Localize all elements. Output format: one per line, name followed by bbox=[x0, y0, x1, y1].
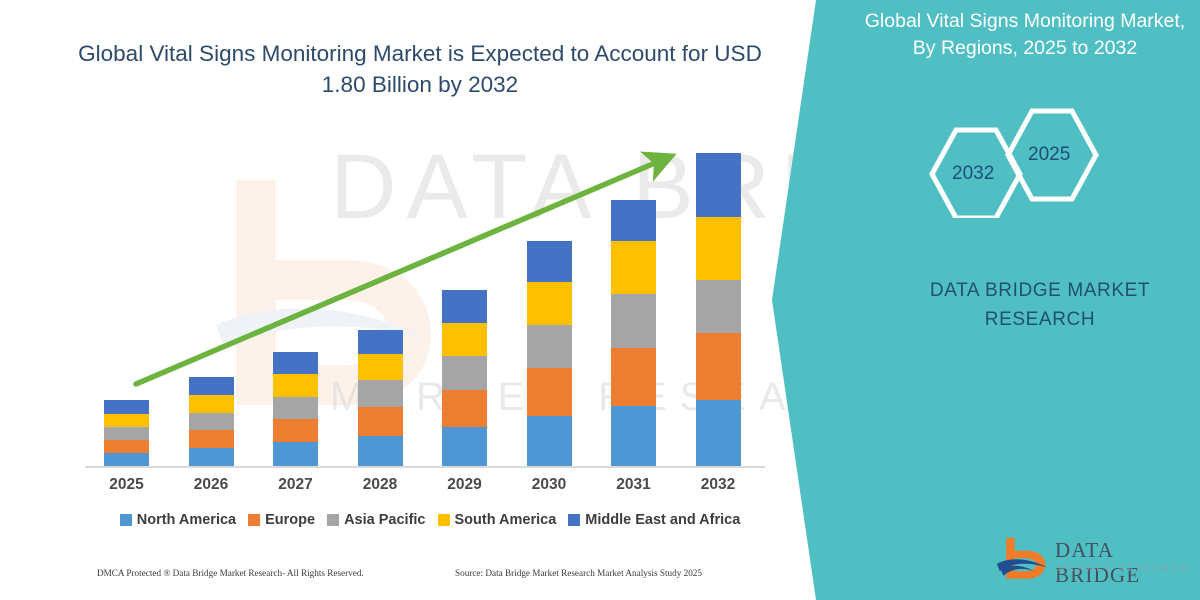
growth-arrow-icon bbox=[0, 0, 800, 600]
bar-2030 bbox=[527, 241, 572, 466]
bar-segment-north-america bbox=[611, 406, 656, 466]
legend-label: South America bbox=[455, 512, 557, 528]
bar-segment-middle-east-and-africa bbox=[358, 330, 403, 354]
chart-legend: North AmericaEuropeAsia PacificSouth Ame… bbox=[85, 512, 775, 528]
panel-brand-line2: RESEARCH bbox=[900, 305, 1180, 334]
legend-swatch-icon bbox=[438, 514, 450, 526]
bar-segment-asia-pacific bbox=[442, 356, 487, 390]
bar-segment-middle-east-and-africa bbox=[611, 200, 656, 241]
x-label-2027: 2027 bbox=[251, 476, 341, 494]
bar-2025 bbox=[104, 400, 149, 466]
x-label-2029: 2029 bbox=[420, 476, 510, 494]
data-bridge-logo: DATA BRIDGE MARKET RESEARCH bbox=[995, 532, 1195, 592]
bar-segment-asia-pacific bbox=[104, 427, 149, 440]
bar-2028 bbox=[358, 330, 403, 466]
bar-segment-north-america bbox=[189, 448, 234, 466]
panel-brand: DATA BRIDGE MARKET RESEARCH bbox=[900, 276, 1180, 334]
bar-segment-north-america bbox=[358, 436, 403, 466]
bar-segment-asia-pacific bbox=[527, 325, 572, 368]
bar-segment-europe bbox=[273, 419, 318, 442]
bar-segment-south-america bbox=[358, 354, 403, 380]
x-label-2031: 2031 bbox=[589, 476, 679, 494]
bar-segment-asia-pacific bbox=[189, 413, 234, 430]
bar-segment-asia-pacific bbox=[358, 380, 403, 407]
bar-segment-middle-east-and-africa bbox=[442, 290, 487, 323]
x-label-2025: 2025 bbox=[82, 476, 172, 494]
footer-source: Source: Data Bridge Market Research Mark… bbox=[455, 568, 702, 578]
stacked-bar-chart: 20252026202720282029203020312032 bbox=[0, 0, 800, 600]
legend-label: Asia Pacific bbox=[344, 512, 425, 528]
bar-segment-north-america bbox=[696, 400, 741, 466]
legend-swatch-icon bbox=[327, 514, 339, 526]
bar-2026 bbox=[189, 377, 234, 466]
legend-swatch-icon bbox=[568, 514, 580, 526]
bar-segment-middle-east-and-africa bbox=[104, 400, 149, 414]
legend-item-middle-east-and-africa[interactable]: Middle East and Africa bbox=[568, 512, 740, 528]
x-label-2032: 2032 bbox=[673, 476, 763, 494]
bar-segment-south-america bbox=[696, 217, 741, 280]
legend-label: North America bbox=[137, 512, 236, 528]
bar-segment-south-america bbox=[104, 414, 149, 427]
hexagon-outline-icons bbox=[920, 108, 1110, 218]
bar-2031 bbox=[611, 200, 656, 466]
hexagon-badges: 2025 2032 bbox=[920, 108, 1110, 218]
bar-segment-asia-pacific bbox=[273, 397, 318, 419]
bar-segment-europe bbox=[189, 430, 234, 448]
footer-copyright: DMCA Protected ® Data Bridge Market Rese… bbox=[97, 568, 364, 578]
bar-segment-middle-east-and-africa bbox=[696, 153, 741, 217]
legend-item-europe[interactable]: Europe bbox=[248, 512, 315, 528]
x-label-2030: 2030 bbox=[504, 476, 594, 494]
bar-segment-europe bbox=[442, 390, 487, 427]
legend-swatch-icon bbox=[248, 514, 260, 526]
logo-subtitle: MARKET RESEARCH bbox=[1057, 563, 1190, 573]
bar-segment-europe bbox=[358, 407, 403, 436]
bar-2032 bbox=[696, 153, 741, 466]
x-label-2028: 2028 bbox=[335, 476, 425, 494]
bar-segment-asia-pacific bbox=[696, 280, 741, 333]
bar-2027 bbox=[273, 352, 318, 466]
bar-segment-north-america bbox=[442, 427, 487, 466]
x-label-2026: 2026 bbox=[166, 476, 256, 494]
legend-item-south-america[interactable]: South America bbox=[438, 512, 557, 528]
legend-label: Middle East and Africa bbox=[585, 512, 740, 528]
bar-segment-north-america bbox=[527, 416, 572, 466]
panel-title: Global Vital Signs Monitoring Market, By… bbox=[860, 8, 1190, 62]
infographic-root: DATA BRIDGE MARKET RESEARCH Global Vital… bbox=[0, 0, 1200, 600]
bar-segment-south-america bbox=[527, 282, 572, 325]
legend-swatch-icon bbox=[120, 514, 132, 526]
bar-2029 bbox=[442, 290, 487, 466]
bar-segment-north-america bbox=[273, 442, 318, 466]
bar-segment-europe bbox=[104, 440, 149, 453]
bar-segment-south-america bbox=[273, 374, 318, 397]
bar-segment-middle-east-and-africa bbox=[273, 352, 318, 374]
bar-segment-south-america bbox=[189, 395, 234, 413]
x-axis-line bbox=[85, 466, 765, 468]
hex-year-2025: 2025 bbox=[1028, 144, 1070, 166]
bar-segment-europe bbox=[696, 333, 741, 400]
legend-item-asia-pacific[interactable]: Asia Pacific bbox=[327, 512, 425, 528]
bar-segment-europe bbox=[527, 368, 572, 416]
panel-brand-line1: DATA BRIDGE MARKET bbox=[900, 276, 1180, 305]
data-bridge-mark-icon bbox=[995, 534, 1051, 588]
bar-segment-asia-pacific bbox=[611, 294, 656, 348]
bar-segment-north-america bbox=[104, 453, 149, 466]
bar-segment-middle-east-and-africa bbox=[527, 241, 572, 282]
hex-year-2032: 2032 bbox=[952, 163, 994, 185]
legend-item-north-america[interactable]: North America bbox=[120, 512, 236, 528]
bar-segment-south-america bbox=[442, 323, 487, 356]
legend-label: Europe bbox=[265, 512, 315, 528]
bar-segment-south-america bbox=[611, 241, 656, 294]
bar-segment-europe bbox=[611, 348, 656, 406]
bar-segment-middle-east-and-africa bbox=[189, 377, 234, 395]
